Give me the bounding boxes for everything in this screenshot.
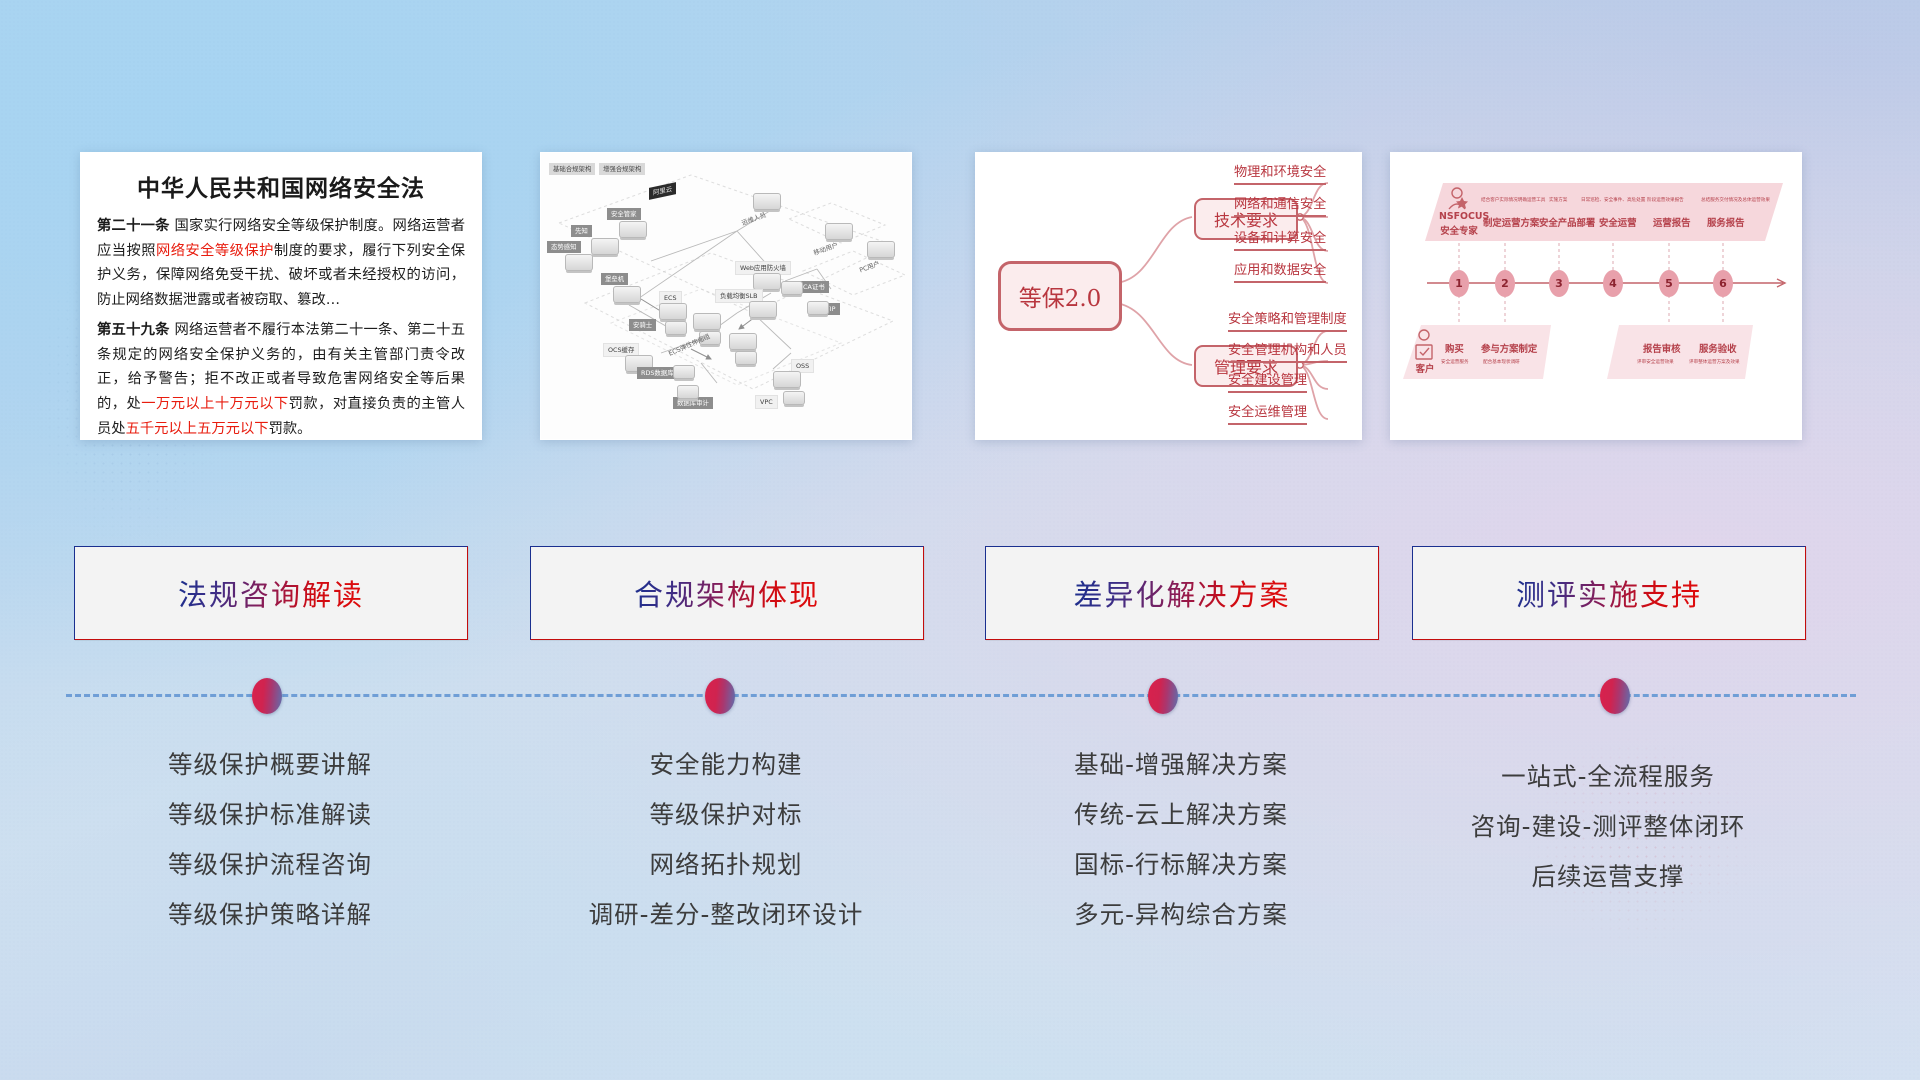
nsfocus-graphics <box>1391 153 1801 439</box>
topology-node-label-anqishi: 安骑士 <box>629 319 656 331</box>
list-item: 调研-差分-整改闭环设计 <box>530 890 922 940</box>
nsfocus-step-number-2: 2 <box>1495 270 1515 297</box>
pillar-detail-list-3: 基础-增强解决方案 传统-云上解决方案 国标-行标解决方案 多元-异构综合方案 <box>985 740 1377 940</box>
law-article-21: 第二十一条 国家实行网络安全等级保护制度。网络运营者应当按照网络安全等级保护制度… <box>97 214 465 312</box>
list-item: 基础-增强解决方案 <box>985 740 1377 790</box>
law-body: 第二十一条 国家实行网络安全等级保护制度。网络运营者应当按照网络安全等级保护制度… <box>81 214 481 440</box>
pillar-label-box-4[interactable]: 测评实施支持 <box>1412 546 1806 640</box>
nsfocus-step-number-1: 1 <box>1449 270 1469 297</box>
law-article-59-text-3: 罚款。 <box>269 421 312 437</box>
topology-node-label-vpc: VPC <box>755 395 778 409</box>
topology-node-icon-18 <box>773 371 801 388</box>
mindmap-leaf-m4: 安全运维管理 <box>1228 401 1307 425</box>
topology-node-icon-17 <box>807 301 829 315</box>
topology-tab-enhanced[interactable]: 增强合规架构 <box>599 163 645 175</box>
topology-canvas: 基础合规架构 增强合规架构 阿里云 安全管家 先知 态势感知 堡垒机 ECS 安… <box>541 153 911 439</box>
nsfocus-bottom-title-4: 服务验收 <box>1699 341 1737 355</box>
law-article-21-label: 第二十一条 <box>97 218 170 234</box>
nsfocus-top-sub-3: 日常巡检、安全事件、高危处置 <box>1581 197 1645 203</box>
topology-node-icon-16 <box>781 281 803 295</box>
pillar-label-box-3[interactable]: 差异化解决方案 <box>985 546 1379 640</box>
topology-node-icon-6 <box>665 321 687 335</box>
nsfocus-bottom-sub-4: 评审整体运营方案及效果 <box>1689 359 1740 365</box>
topology-node-icon-1 <box>619 221 647 238</box>
list-item: 等级保护对标 <box>530 790 922 840</box>
topology-node-icon-15 <box>735 351 757 365</box>
law-article-21-highlight: 网络安全等级保护 <box>156 243 274 259</box>
pillar-label-box-1[interactable]: 法规咨询解读 <box>74 546 468 640</box>
nsfocus-actor-bottom: 客户 <box>1413 361 1437 375</box>
list-item: 后续运营支撑 <box>1412 852 1804 902</box>
list-item: 多元-异构综合方案 <box>985 890 1377 940</box>
topology-node-label-anquanguanjia: 安全管家 <box>607 208 641 220</box>
list-item: 国标-行标解决方案 <box>985 840 1377 890</box>
mindmap-root: 等保2.0 <box>998 261 1122 331</box>
mindmap-leaf-t1: 物理和环境安全 <box>1234 161 1326 185</box>
card-service-timeline[interactable]: NSFOCUS 安全专家 客户 结合客户实际情况明确运营工具 制定运营方案 实施… <box>1390 152 1802 440</box>
nsfocus-canvas: NSFOCUS 安全专家 客户 结合客户实际情况明确运营工具 制定运营方案 实施… <box>1391 153 1801 439</box>
topology-node-label-ca: CA证书 <box>799 281 829 293</box>
nsfocus-bottom-title-3: 报告审核 <box>1643 341 1681 355</box>
nsfocus-bottom-sub-2: 配合基本现状调研 <box>1483 359 1520 365</box>
mindmap-leaf-t2: 网络和通信安全 <box>1234 193 1326 217</box>
topology-node-label-shishiganzhi: 态势感知 <box>547 241 581 253</box>
list-item: 网络拓扑规划 <box>530 840 922 890</box>
mindmap-leaf-m3: 安全建设管理 <box>1228 369 1307 393</box>
nsfocus-top-sub-4: 阶段运营效果报告 <box>1647 197 1684 203</box>
card-law-document[interactable]: 中华人民共和国网络安全法 第二十一条 国家实行网络安全等级保护制度。网络运营者应… <box>80 152 482 440</box>
nsfocus-step-number-5: 5 <box>1659 270 1679 297</box>
timeline-dot-2[interactable] <box>705 678 735 714</box>
topology-node-icon-19 <box>783 391 805 405</box>
nsfocus-top-title-4: 运营报告 <box>1653 215 1691 229</box>
topology-node-label-rds: RDS数据库 <box>637 367 678 379</box>
topology-node-icon-5 <box>659 303 687 320</box>
nsfocus-top-title-1: 制定运营方案 <box>1483 215 1539 229</box>
slide-stage: 中华人民共和国网络安全法 第二十一条 国家实行网络安全等级保护制度。网络运营者应… <box>0 0 1920 1080</box>
pillar-label-text-3: 差异化解决方案 <box>1073 572 1290 614</box>
pillar-detail-list-4: 一站式-全流程服务 咨询-建设-测评整体闭环 后续运营支撑 <box>1412 752 1804 902</box>
nsfocus-actor-top-line2: 安全专家 <box>1439 223 1479 237</box>
nsfocus-top-title-3: 安全运营 <box>1599 215 1637 229</box>
mindmap-leaf-m2: 安全管理机构和人员 <box>1228 339 1347 363</box>
topology-tab-basic[interactable]: 基础合规架构 <box>549 163 595 175</box>
list-item: 等级保护策略详解 <box>74 890 466 940</box>
nsfocus-bottom-title-2: 参与方案制定 <box>1481 341 1537 355</box>
list-item: 等级保护标准解读 <box>74 790 466 840</box>
mindmap-leaf-t4: 应用和数据安全 <box>1234 259 1326 283</box>
pillar-label-row: 法规咨询解读 合规架构体现 差异化解决方案 测评实施支持 <box>0 546 1920 638</box>
timeline-dot-1[interactable] <box>252 678 282 714</box>
card-network-topology[interactable]: 基础合规架构 增强合规架构 阿里云 安全管家 先知 态势感知 堡垒机 ECS 安… <box>540 152 912 440</box>
topology-node-icon-11 <box>749 301 777 318</box>
topology-node-icon-9 <box>677 385 699 399</box>
topology-node-icon-22 <box>867 241 895 258</box>
topology-node-icon-8 <box>673 365 695 379</box>
mindmap-canvas: 等保2.0 技术要求 管理要求 物理和环境安全 网络和通信安全 设备和计算安全 … <box>976 153 1361 439</box>
law-article-59-label: 第五十九条 <box>97 322 170 338</box>
nsfocus-top-title-2: 安全产品部署 <box>1539 215 1595 229</box>
preview-cards-row: 中华人民共和国网络安全法 第二十一条 国家实行网络安全等级保护制度。网络运营者应… <box>0 152 1920 442</box>
nsfocus-bottom-sub-1: 安全运营服务 <box>1441 359 1469 365</box>
list-item: 一站式-全流程服务 <box>1412 752 1804 802</box>
pillar-label-box-2[interactable]: 合规架构体现 <box>530 546 924 640</box>
timeline-dashed-line <box>66 694 1856 697</box>
topology-node-icon-21 <box>825 223 853 240</box>
topology-node-icon-10 <box>753 273 781 290</box>
topology-node-icon-2 <box>591 238 619 255</box>
list-item: 等级保护流程咨询 <box>74 840 466 890</box>
topology-node-icon-20 <box>753 193 781 210</box>
list-item: 等级保护概要讲解 <box>74 740 466 790</box>
list-item: 安全能力构建 <box>530 740 922 790</box>
pillar-label-text-2: 合规架构体现 <box>634 572 820 614</box>
nsfocus-top-sub-2: 实施方案 <box>1549 197 1567 203</box>
card-mindmap[interactable]: 等保2.0 技术要求 管理要求 物理和环境安全 网络和通信安全 设备和计算安全 … <box>975 152 1362 440</box>
law-article-59: 第五十九条 网络运营者不履行本法第二十一条、第二十五条规定的网络安全保护义务的，… <box>97 318 465 440</box>
nsfocus-bottom-sub-3: 评审安全运营效果 <box>1637 359 1674 365</box>
nsfocus-step-number-3: 3 <box>1549 270 1569 297</box>
topology-node-icon-12 <box>693 313 721 330</box>
nsfocus-top-sub-5: 总结服务交付情况及总体运营效果 <box>1701 197 1770 203</box>
list-item: 传统-云上解决方案 <box>985 790 1377 840</box>
pillar-label-text-4: 测评实施支持 <box>1516 572 1702 614</box>
nsfocus-top-sub-1: 结合客户实际情况明确运营工具 <box>1481 197 1545 203</box>
mindmap-leaf-m1: 安全策略和管理制度 <box>1228 308 1347 332</box>
timeline-dot-3[interactable] <box>1148 678 1178 714</box>
list-item: 咨询-建设-测评整体闭环 <box>1412 802 1804 852</box>
law-title: 中华人民共和国网络安全法 <box>81 169 481 203</box>
nsfocus-bottom-title-1: 购买 <box>1445 341 1464 355</box>
pillar-detail-list-2: 安全能力构建 等级保护对标 网络拓扑规划 调研-差分-整改闭环设计 <box>530 740 922 940</box>
nsfocus-step-number-4: 4 <box>1603 270 1623 297</box>
nsfocus-top-title-5: 服务报告 <box>1707 215 1745 229</box>
topology-node-icon-3 <box>565 254 593 271</box>
mindmap-leaf-t3: 设备和计算安全 <box>1234 227 1326 251</box>
pillar-detail-row: 等级保护概要讲解 等级保护标准解读 等级保护流程咨询 等级保护策略详解 安全能力… <box>0 740 1920 980</box>
topology-node-icon-4 <box>613 286 641 303</box>
pillar-label-text-1: 法规咨询解读 <box>178 572 364 614</box>
topology-node-icon-14 <box>729 333 757 350</box>
law-article-59-highlight-1: 一万元以上十万元以下 <box>141 396 288 412</box>
timeline-dot-4[interactable] <box>1600 678 1630 714</box>
nsfocus-step-number-6: 6 <box>1713 270 1733 297</box>
topology-node-label-xianzhi: 先知 <box>571 225 592 237</box>
topology-node-label-baoleiji: 堡垒机 <box>601 273 628 285</box>
law-article-59-highlight-2: 五千元以上五万元以下 <box>126 421 269 437</box>
nsfocus-actor-top-line1: NSFOCUS <box>1439 211 1479 222</box>
pillar-detail-list-1: 等级保护概要讲解 等级保护标准解读 等级保护流程咨询 等级保护策略详解 <box>74 740 466 940</box>
